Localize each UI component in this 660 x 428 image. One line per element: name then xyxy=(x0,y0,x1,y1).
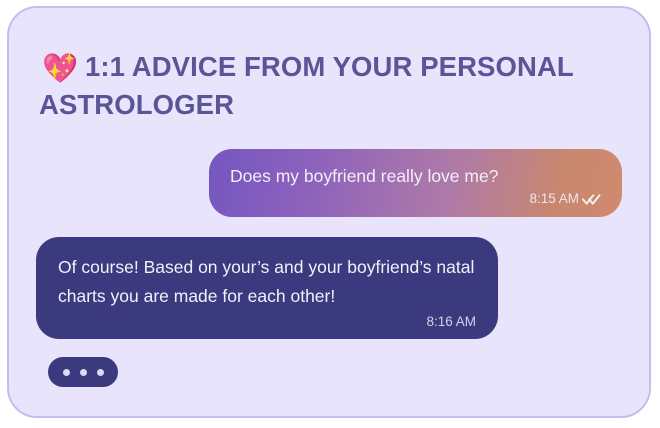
chat-promo-card: 💖 1:1 ADVICE FROM YOUR PERSONAL ASTROLOG… xyxy=(7,6,651,418)
sparkling-heart-icon: 💖 xyxy=(42,52,76,86)
message-row-outgoing: Does my boyfriend really love me? 8:15 A… xyxy=(9,149,649,217)
message-bubble-outgoing[interactable]: Does my boyfriend really love me? 8:15 A… xyxy=(209,149,622,217)
message-bubble-incoming[interactable]: Of course! Based on your’s and your boyf… xyxy=(36,237,498,339)
page-title-text: 1:1 ADVICE FROM YOUR PERSONAL ASTROLOGER xyxy=(39,48,609,124)
message-timestamp: 8:15 AM xyxy=(529,190,579,208)
typing-dot xyxy=(80,369,87,376)
message-text: Of course! Based on your’s and your boyf… xyxy=(58,253,476,311)
message-meta: 8:16 AM xyxy=(58,313,476,331)
message-timestamp: 8:16 AM xyxy=(426,313,476,331)
message-row-incoming: Of course! Based on your’s and your boyf… xyxy=(36,237,498,339)
page-title: 💖 1:1 ADVICE FROM YOUR PERSONAL ASTROLOG… xyxy=(39,48,609,124)
message-text: Does my boyfriend really love me? xyxy=(230,164,601,188)
typing-dot xyxy=(97,369,104,376)
typing-dot xyxy=(63,369,70,376)
typing-indicator xyxy=(48,357,118,387)
double-check-icon xyxy=(582,193,601,206)
message-meta: 8:15 AM xyxy=(230,190,601,208)
